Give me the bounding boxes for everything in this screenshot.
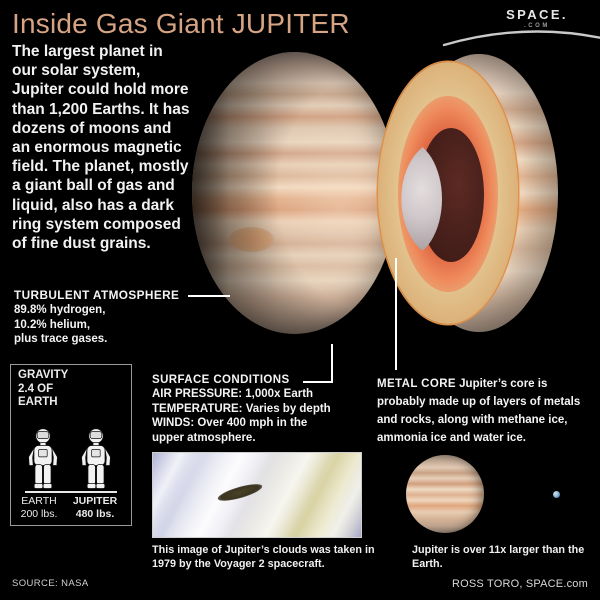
callout-turbulent-body: 89.8% hydrogen, 10.2% helium, plus trace… [14,303,204,347]
gravity-label: GRAVITY 2.4 OF EARTH [18,369,68,410]
gravity-earth-name: EARTH [15,495,63,508]
size-comparison-caption: Jupiter is over 11x larger than the Eart… [412,544,592,571]
logo-wordmark: SPACE. [487,8,587,21]
comparison-jupiter [406,455,484,533]
voyager-cloud-photo [152,452,362,538]
spacecom-logo: SPACE. .COM [487,8,587,42]
voyager-cloud-bands [152,452,362,538]
source-credit: SOURCE: NASA [12,578,89,589]
gravity-comparison-box: GRAVITY 2.4 OF EARTH [10,364,132,526]
jupiter-cutaway-diagram [372,54,558,332]
astronaut-earth-icon [24,427,62,493]
logo-arc-icon [442,25,600,47]
astronaut-ground-line [25,491,117,493]
leader-line-core-vertical [395,258,397,370]
gravity-earth-weight: 200 lbs. [15,508,63,521]
author-credit: ROSS TORO, SPACE.com [452,578,588,590]
callout-surface-conditions: SURFACE CONDITIONS AIR PRESSURE: 1,000x … [152,374,367,445]
gravity-earth-column: EARTH 200 lbs. [15,495,63,521]
page-title: Inside Gas Giant JUPITER [12,8,350,40]
comparison-earth [553,491,560,498]
planet-terminator-shading [192,52,397,334]
astronaut-jupiter-icon [77,427,115,493]
callout-turbulent-atmosphere: TURBULENT ATMOSPHERE 89.8% hydrogen, 10.… [14,288,204,347]
infographic-poster: Inside Gas Giant JUPITER SPACE. .COM The… [0,0,600,600]
gravity-jupiter-name: JUPITER [63,495,127,508]
jupiter-earth-size-comparison [398,452,594,536]
astronaut-row [11,427,131,493]
callout-turbulent-heading: TURBULENT ATMOSPHERE [14,288,204,302]
callout-core-heading: METAL CORE [377,378,456,390]
jupiter-planet-illustration [192,52,397,334]
gravity-jupiter-column: JUPITER 480 lbs. [63,495,127,521]
callout-surface-heading: SURFACE CONDITIONS [152,374,367,386]
callout-metal-core: METAL CORE Jupiter’s core is probably ma… [377,374,592,446]
intro-paragraph: The largest planet in our solar system, … [12,42,190,253]
gravity-jupiter-weight: 480 lbs. [63,508,127,521]
voyager-photo-caption: This image of Jupiter’s clouds was taken… [152,544,377,571]
callout-surface-body: AIR PRESSURE: 1,000x Earth TEMPERATURE: … [152,387,367,445]
